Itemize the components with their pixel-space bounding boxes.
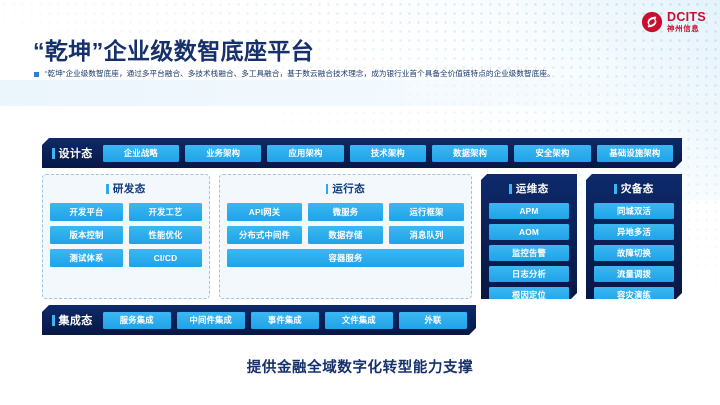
design-stage-label-group: 设计态 xyxy=(52,145,93,161)
dcits-swirl-logo-icon xyxy=(641,11,663,33)
logo-latin-text: DCITS xyxy=(667,11,706,24)
runtime-cell-container-service[interactable]: 容器服务 xyxy=(227,249,464,267)
header-background-band xyxy=(0,80,720,106)
accent-tick-icon xyxy=(614,184,617,194)
footer-slogan: 提供金融全域数字化转型能力支撑 xyxy=(0,356,720,377)
dr-cell[interactable]: 容灾演练 xyxy=(594,287,674,303)
dev-cell[interactable]: 开发平台 xyxy=(50,203,123,221)
runtime-cell[interactable]: 微服务 xyxy=(308,203,383,221)
ops-stage-title: 运维态 xyxy=(516,181,549,196)
subtitle-row: “乾坤”企业级数智底座，通过多平台融合、多技术栈融合、多工具融合，基于数云融合技… xyxy=(34,69,555,79)
runtime-cell[interactable]: 分布式中间件 xyxy=(227,226,302,244)
design-stage-label: 设计态 xyxy=(59,145,93,161)
dr-cell[interactable]: 流量调拨 xyxy=(594,266,674,282)
ops-cell[interactable]: 监控告警 xyxy=(489,245,569,261)
integration-chip[interactable]: 中间件集成 xyxy=(177,312,245,329)
ops-stage-title-group: 运维态 xyxy=(489,181,569,196)
ops-stage-stack: APM AOM 监控告警 日志分析 根因定位 xyxy=(489,203,569,303)
design-chip[interactable]: 业务架构 xyxy=(185,145,261,162)
runtime-stage-title: 运行态 xyxy=(332,181,365,196)
brand-logo: DCITS 神州信息 xyxy=(641,11,706,33)
dr-stage-title: 灾备态 xyxy=(621,181,654,196)
dev-cell[interactable]: CI/CD xyxy=(129,249,202,267)
dr-stage-stack: 同城双活 异地多活 故障切换 流量调拨 容灾演练 xyxy=(594,203,674,303)
disaster-recovery-panel: 灾备态 同城双活 异地多活 故障切换 流量调拨 容灾演练 xyxy=(586,174,682,299)
integration-stage-row: 集成态 服务集成 中间件集成 事件集成 文件集成 外联 xyxy=(42,305,476,335)
ops-stage-panel: 运维态 APM AOM 监控告警 日志分析 根因定位 xyxy=(481,174,577,299)
dr-cell[interactable]: 故障切换 xyxy=(594,245,674,261)
logo-cjk-text: 神州信息 xyxy=(667,25,706,33)
dev-cell[interactable]: 开发工艺 xyxy=(129,203,202,221)
accent-tick-icon xyxy=(509,184,512,194)
integration-chip[interactable]: 事件集成 xyxy=(251,312,319,329)
ops-cell[interactable]: AOM xyxy=(489,224,569,240)
runtime-stage-title-group: 运行态 xyxy=(227,181,464,196)
design-chip[interactable]: 技术架构 xyxy=(350,145,426,162)
runtime-cell[interactable]: API网关 xyxy=(227,203,302,221)
ops-cell[interactable]: APM xyxy=(489,203,569,219)
design-stage-chips: 企业战略 业务架构 应用架构 技术架构 数据架构 安全架构 基础设施架构 xyxy=(103,145,673,162)
integration-stage-chips: 服务集成 中间件集成 事件集成 文件集成 外联 xyxy=(103,312,467,329)
dr-stage-title-group: 灾备态 xyxy=(594,181,674,196)
design-chip[interactable]: 安全架构 xyxy=(514,145,590,162)
dev-stage-grid: 开发平台 开发工艺 版本控制 性能优化 测试体系 CI/CD xyxy=(50,203,202,267)
runtime-cell[interactable]: 运行框架 xyxy=(389,203,464,221)
integration-chip[interactable]: 服务集成 xyxy=(103,312,171,329)
dev-stage-title: 研发态 xyxy=(113,181,146,196)
design-chip[interactable]: 企业战略 xyxy=(103,145,179,162)
runtime-cell[interactable]: 消息队列 xyxy=(389,226,464,244)
dev-cell[interactable]: 测试体系 xyxy=(50,249,123,267)
runtime-cell[interactable]: 数据存储 xyxy=(308,226,383,244)
design-stage-row: 设计态 企业战略 业务架构 应用架构 技术架构 数据架构 安全架构 基础设施架构 xyxy=(42,138,682,168)
dr-cell[interactable]: 异地多活 xyxy=(594,224,674,240)
middle-panels-row: 研发态 开发平台 开发工艺 版本控制 性能优化 测试体系 CI/CD 运行态 A… xyxy=(42,174,682,299)
integration-chip[interactable]: 文件集成 xyxy=(325,312,393,329)
page-title: “乾坤”企业级数智底座平台 xyxy=(33,32,314,66)
dev-cell[interactable]: 版本控制 xyxy=(50,226,123,244)
runtime-stage-grid: API网关 微服务 运行框架 分布式中间件 数据存储 消息队列 容器服务 xyxy=(227,203,464,267)
integration-chip[interactable]: 外联 xyxy=(399,312,467,329)
integration-stage-label: 集成态 xyxy=(59,312,93,328)
ops-cell[interactable]: 根因定位 xyxy=(489,287,569,303)
dr-cell[interactable]: 同城双活 xyxy=(594,203,674,219)
architecture-diagram: 设计态 企业战略 业务架构 应用架构 技术架构 数据架构 安全架构 基础设施架构… xyxy=(42,138,682,343)
accent-tick-icon xyxy=(52,315,55,326)
integration-stage-label-group: 集成态 xyxy=(52,312,93,328)
design-chip[interactable]: 数据架构 xyxy=(432,145,508,162)
subtitle-text: “乾坤”企业级数智底座，通过多平台融合、多技术栈融合、多工具融合，基于数云融合技… xyxy=(45,69,555,79)
design-chip[interactable]: 应用架构 xyxy=(267,145,343,162)
ops-cell[interactable]: 日志分析 xyxy=(489,266,569,282)
square-bullet-icon xyxy=(34,72,39,77)
dev-cell[interactable]: 性能优化 xyxy=(129,226,202,244)
dev-stage-panel: 研发态 开发平台 开发工艺 版本控制 性能优化 测试体系 CI/CD xyxy=(42,174,210,299)
logo-wordmark: DCITS 神州信息 xyxy=(667,11,706,33)
design-chip[interactable]: 基础设施架构 xyxy=(597,145,673,162)
runtime-stage-panel: 运行态 API网关 微服务 运行框架 分布式中间件 数据存储 消息队列 容器服务 xyxy=(219,174,472,299)
accent-tick-icon xyxy=(326,184,329,194)
accent-tick-icon xyxy=(106,184,109,194)
dev-stage-title-group: 研发态 xyxy=(50,181,202,196)
accent-tick-icon xyxy=(52,148,55,159)
